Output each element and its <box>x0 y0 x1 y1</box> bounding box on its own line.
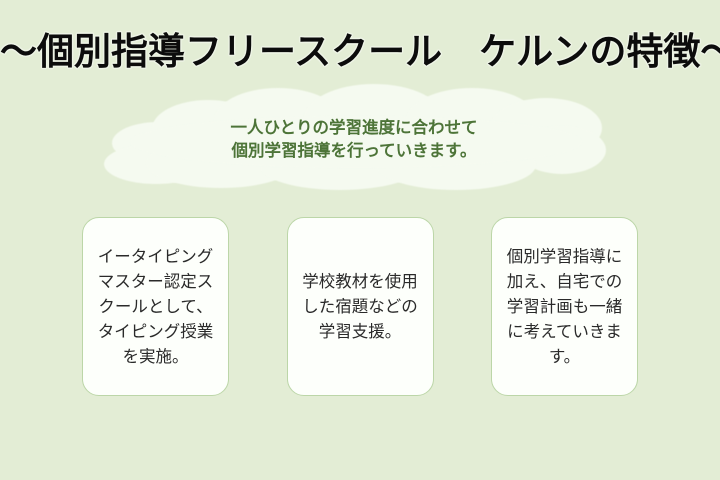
cloud-caption-text: 一人ひとりの学習進度に合わせて 個別学習指導を行っていきます。 <box>118 116 590 163</box>
page-title-text: 〜個別指導フリースクール ケルンの特徴〜 <box>0 33 720 70</box>
feature-cards: イータイピング マスター認定ス クールとして、 タイピング授業 を実施。 学校教… <box>82 217 638 396</box>
feature-card-text: 個別学習指導に 加え、自宅での 学習計画も一緒 に考えていきま す。 <box>507 244 623 369</box>
feature-card-homework: 学校教材を使用 した宿題などの 学習支援。 <box>287 217 434 396</box>
feature-card-text: イータイピング マスター認定ス クールとして、 タイピング授業 を実施。 <box>98 244 214 369</box>
cloud-callout: 一人ひとりの学習進度に合わせて 個別学習指導を行っていきます。 <box>118 86 590 190</box>
slide-canvas: 〜個別指導フリースクール ケルンの特徴〜 一人ひとりの学習進度に合わせて 個別学… <box>0 0 720 480</box>
feature-card-text: 学校教材を使用 した宿題などの 学習支援。 <box>302 269 418 344</box>
page-title: 〜個別指導フリースクール ケルンの特徴〜 <box>0 33 720 70</box>
feature-card-home-study-plan: 個別学習指導に 加え、自宅での 学習計画も一緒 に考えていきま す。 <box>491 217 638 396</box>
feature-card-typing: イータイピング マスター認定ス クールとして、 タイピング授業 を実施。 <box>82 217 229 396</box>
